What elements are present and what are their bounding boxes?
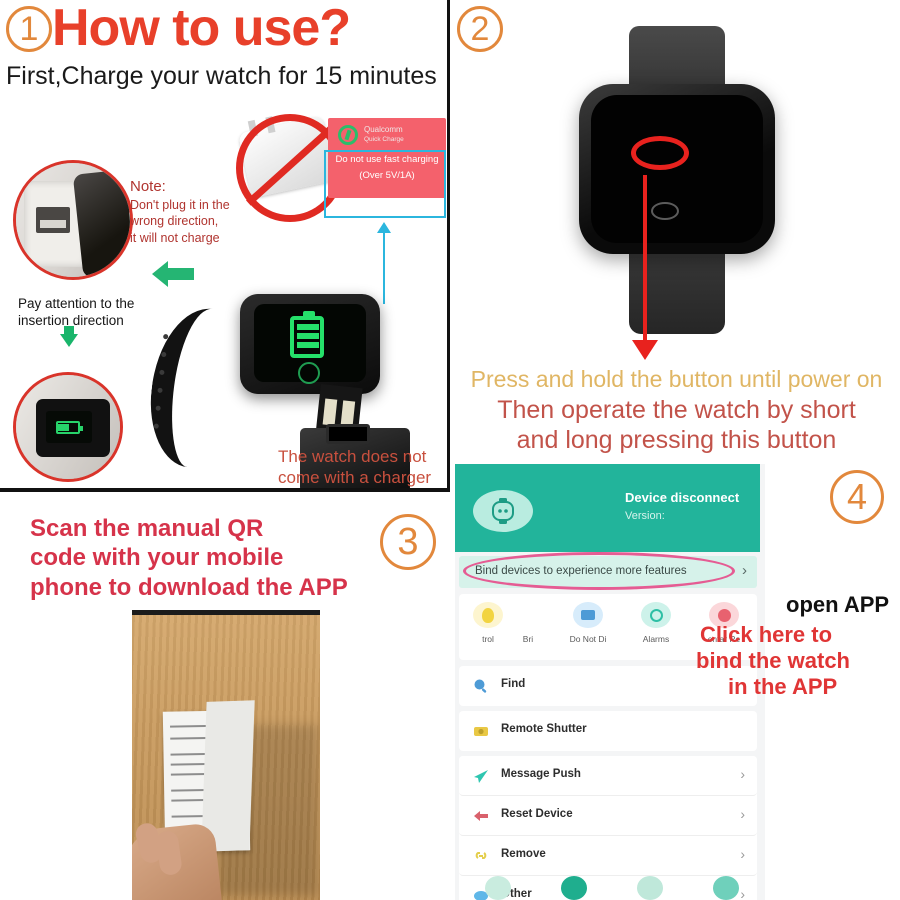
- note-block: Note: Don't plug it in the wrong directi…: [130, 178, 260, 246]
- send-icon: [473, 768, 489, 784]
- manual-paper-photo: [132, 610, 320, 900]
- scan-qr-line-3: phone to download the APP: [30, 573, 380, 602]
- watch-avatar-icon: [473, 490, 533, 532]
- no-charger-line-2: come with a charger: [278, 467, 450, 488]
- link-icon: [473, 848, 489, 864]
- camera-icon: [473, 723, 489, 739]
- brightness-icon-2: [513, 602, 543, 628]
- step-number-3: 3: [380, 514, 436, 570]
- menu-item-message-push[interactable]: Message Push ›: [459, 756, 757, 796]
- chevron-right-icon-reset: ›: [740, 806, 745, 822]
- qualcomm-brand: Qualcomm: [364, 125, 403, 134]
- quick-action-3[interactable]: Alarms: [627, 602, 685, 644]
- device-version-label: Version:: [625, 510, 665, 522]
- find-icon: [473, 678, 489, 694]
- quick-action-label-1: Bri: [499, 634, 557, 644]
- press-hold-instruction: Press and hold the button until power on: [453, 366, 900, 393]
- step-number-4: 4: [830, 470, 884, 524]
- reset-icon: [473, 808, 489, 824]
- menu-label-message-push: Message Push: [501, 768, 581, 780]
- quick-action-2[interactable]: Do Not Di: [559, 602, 617, 644]
- blue-highlight-box: [324, 150, 446, 218]
- quick-action-label-3: Alarms: [627, 634, 685, 644]
- watch-home-indicator: [298, 362, 320, 384]
- no-charger-disclaimer: The watch does not come with a charger: [278, 446, 450, 489]
- device-status-text: Device disconnect: [625, 490, 739, 505]
- quick-action-1[interactable]: Bri: [499, 602, 557, 644]
- qualcomm-logo-icon: [338, 125, 358, 145]
- chevron-right-icon-message: ›: [740, 766, 745, 782]
- charge-subtitle: First,Charge your watch for 15 minutes: [6, 62, 437, 91]
- step-number-1: 1: [6, 6, 52, 52]
- note-line-1: Don't plug it in the: [130, 197, 260, 213]
- page-title: How to use?: [52, 0, 350, 58]
- battery-full-icon: [290, 316, 324, 358]
- note-line-3: it will not charge: [130, 230, 260, 246]
- scan-qr-line-2: code with your mobile: [30, 543, 380, 572]
- menu-item-remove[interactable]: Remove ›: [459, 836, 757, 876]
- menu-label-remote-shutter: Remote Shutter: [501, 723, 587, 735]
- qualcomm-subtitle: Quick Charge: [364, 136, 404, 143]
- menu-item-remote-shutter[interactable]: Remote Shutter: [459, 711, 757, 751]
- note-line-2: wrong direction,: [130, 213, 260, 229]
- app-header: Device disconnect Version:: [455, 464, 760, 552]
- bind-annotation-line-2: bind the watch: [696, 648, 850, 674]
- bind-annotation-line-3: in the APP: [728, 674, 837, 700]
- chevron-right-icon: ›: [742, 562, 747, 579]
- nav-item-1[interactable]: [485, 876, 511, 900]
- panel-how-to-use: 1 How to use? First,Charge your watch fo…: [0, 0, 450, 492]
- red-down-arrow-icon: [643, 175, 647, 345]
- scan-qr-title: Scan the manual QR code with your mobile…: [30, 514, 380, 602]
- scan-qr-line-1: Scan the manual QR: [30, 514, 380, 543]
- no-charger-line-1: The watch does not: [278, 446, 450, 467]
- smartwatch-photo: [573, 26, 783, 336]
- watch-screen: [591, 95, 763, 243]
- panel-scan-qr: 3 Scan the manual QR code with your mobi…: [0, 496, 450, 900]
- nav-item-4[interactable]: [713, 876, 739, 900]
- do-not-disturb-icon: [573, 602, 603, 628]
- bind-annotation-line-1: Click here to: [700, 622, 832, 648]
- watch-case: [579, 84, 775, 254]
- nav-item-3[interactable]: [637, 876, 663, 900]
- app-bottom-nav: [459, 876, 757, 900]
- menu-label-remove: Remove: [501, 848, 546, 860]
- step-number-2: 2: [457, 6, 503, 52]
- usb-insertion-photo: [13, 160, 133, 280]
- note-title: Note:: [130, 178, 260, 195]
- app-screenshot: Device disconnect Version: Bind devices …: [455, 464, 765, 900]
- nav-item-2[interactable]: [561, 876, 587, 900]
- operate-watch-instruction-line-2: and long pressing this button: [453, 426, 900, 455]
- instruction-infographic: 1 How to use? First,Charge your watch fo…: [0, 0, 900, 900]
- watch-power-button[interactable]: [651, 202, 679, 220]
- alarm-icon: [641, 602, 671, 628]
- no-fast-charge-graphic: Qualcomm Quick Charge Do not use fast ch…: [236, 114, 446, 224]
- battery-indicator-photo: [13, 372, 123, 482]
- operate-watch-instruction-line-1: Then operate the watch by short: [453, 396, 900, 425]
- menu-label-reset-device: Reset Device: [501, 808, 573, 820]
- app-menu-list: Find Remote Shutter Message Push: [459, 666, 757, 900]
- green-down-arrow-icon: [60, 334, 78, 347]
- menu-item-reset-device[interactable]: Reset Device ›: [459, 796, 757, 836]
- menu-label-find: Find: [501, 678, 525, 690]
- red-highlight-ring: [631, 136, 689, 170]
- chevron-right-icon-remove: ›: [740, 846, 745, 862]
- open-app-annotation: open APP: [786, 592, 889, 618]
- pink-highlight-ellipse: [463, 552, 735, 590]
- quick-action-label-2: Do Not Di: [559, 634, 617, 644]
